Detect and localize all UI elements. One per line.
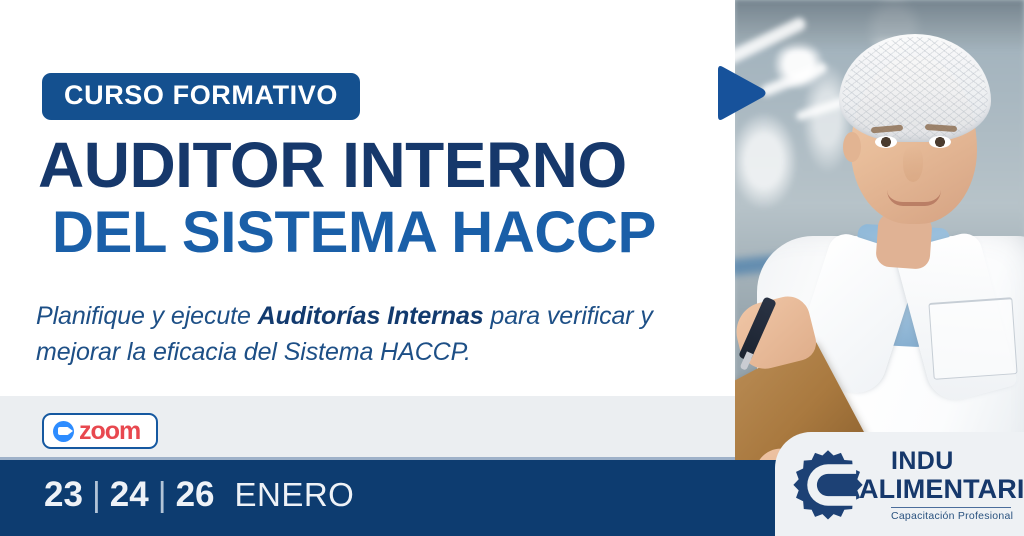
coat-pocket	[928, 297, 1017, 380]
video-camera-icon	[53, 421, 74, 442]
brand-tagline: Capacitación Profesional	[891, 511, 1024, 522]
date-day-3: 26	[176, 477, 215, 512]
gear-icon	[791, 448, 865, 522]
subtitle-emphasis: Auditorías Internas	[258, 302, 484, 330]
eye	[929, 136, 951, 148]
brand-name-line-1: INDU	[891, 449, 1024, 474]
zoom-wordmark: zoom	[79, 419, 140, 444]
video-camera-icon-body	[58, 427, 69, 435]
date-separator: |	[92, 478, 101, 512]
brand-logo-panel: INDU ALIMENTARIO Capacitación Profesiona…	[775, 432, 1024, 536]
ear	[843, 132, 861, 162]
headline-line-1: AUDITOR INTERNO	[38, 134, 627, 197]
course-type-badge: CURSO FORMATIVO	[42, 73, 360, 120]
play-triangle-icon[interactable]	[708, 62, 768, 124]
nose	[903, 146, 923, 182]
promo-banner: CURSO FORMATIVO AUDITOR INTERNO DEL SIST…	[0, 0, 1024, 536]
brand-logo-text: INDU ALIMENTARIO Capacitación Profesiona…	[859, 449, 1024, 522]
brand-divider	[891, 507, 1011, 509]
mouth	[887, 190, 941, 206]
date-separator: |	[158, 478, 167, 512]
course-type-badge-label: CURSO FORMATIVO	[64, 82, 338, 109]
zoom-platform-chip[interactable]: zoom	[42, 413, 158, 449]
subtitle: Planifique y ejecute Auditorías Internas…	[36, 299, 726, 370]
brand-name-line-2: ALIMENTARIO	[859, 476, 1024, 503]
date-month: ENERO	[235, 478, 355, 511]
date-day-1: 23	[44, 477, 83, 512]
course-dates: 23 | 24 | 26 ENERO	[44, 477, 354, 512]
subtitle-part-1: Planifique y ejecute	[36, 302, 258, 330]
eye	[875, 136, 897, 148]
date-day-2: 24	[110, 477, 149, 512]
headline-line-2: DEL SISTEMA HACCP	[52, 205, 656, 262]
